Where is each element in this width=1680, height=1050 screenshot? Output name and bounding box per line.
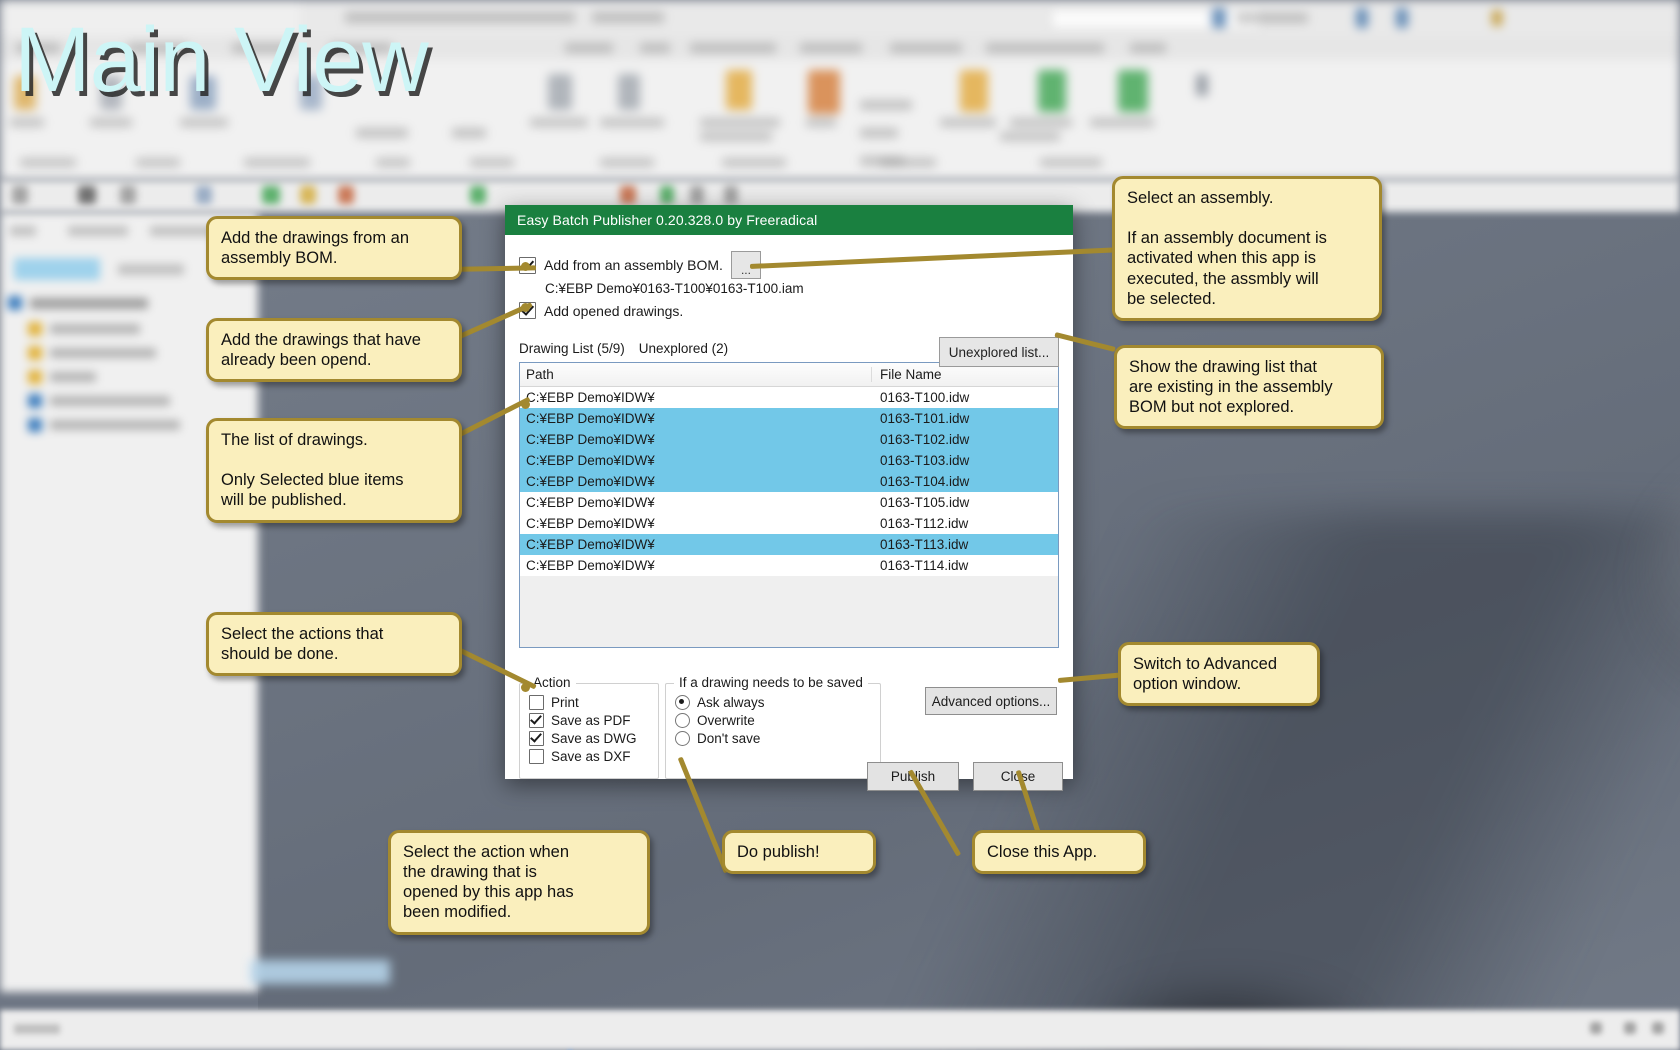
status-icon — [1624, 1022, 1636, 1034]
ribbon-command-label — [1000, 132, 1060, 141]
cell-path: C:¥EBP Demo¥IDW¥ — [520, 432, 872, 447]
drawing-list[interactable]: Path File Name C:¥EBP Demo¥IDW¥0163-T100… — [519, 362, 1059, 648]
save-behavior-group-label: If a drawing needs to be saved — [674, 675, 868, 690]
toolbar-icon — [196, 186, 212, 204]
ribbon-command-icon — [1196, 74, 1208, 96]
toolbar-icon — [724, 186, 738, 204]
save-option-row[interactable]: Don't save — [675, 731, 880, 746]
ribbon-command-icon — [726, 70, 752, 110]
ribbon-tab — [565, 43, 613, 53]
ribbon-command-label — [860, 128, 898, 138]
publish-button[interactable]: Publish — [867, 762, 959, 791]
browser-tab — [118, 264, 184, 275]
bom-checkbox[interactable] — [519, 257, 536, 274]
table-row[interactable]: C:¥EBP Demo¥IDW¥0163-T114.idw — [520, 555, 1058, 576]
save-radio[interactable] — [675, 731, 690, 746]
save-behavior-options: Ask alwaysOverwriteDon't save — [666, 684, 880, 746]
browser-header-label — [150, 226, 218, 236]
cell-filename: 0163-T103.idw — [872, 453, 1058, 468]
bom-path-text: C:¥EBP Demo¥0163-T100¥0163-T100.iam — [545, 281, 1059, 296]
toolbar-icon — [12, 186, 28, 204]
action-option-row[interactable]: Save as DXF — [529, 749, 658, 764]
cell-path: C:¥EBP Demo¥IDW¥ — [520, 474, 872, 489]
ribbon-panel-title — [600, 158, 654, 167]
folder-icon — [28, 322, 42, 336]
ribbon-tab — [690, 43, 776, 53]
tree-node-label — [50, 420, 180, 430]
action-option-label: Save as DWG — [551, 731, 637, 746]
action-checkbox[interactable] — [529, 749, 544, 764]
tree-node-label — [50, 348, 156, 358]
unexplored-list-button[interactable]: Unexplored list... — [939, 337, 1059, 367]
save-option-label: Overwrite — [697, 713, 755, 728]
action-option-row[interactable]: Save as PDF — [529, 713, 658, 728]
app-file-label — [592, 12, 664, 23]
opened-drawings-checkbox[interactable] — [519, 302, 536, 319]
ribbon-command-icon — [1038, 70, 1066, 112]
dialog-title-bar: Easy Batch Publisher 0.20.328.0 by Freer… — [505, 205, 1073, 235]
ribbon-command-label — [700, 118, 780, 127]
tree-node-label — [50, 372, 96, 382]
action-group: Action PrintSave as PDFSave as DWGSave a… — [519, 683, 659, 779]
table-row[interactable]: C:¥EBP Demo¥IDW¥0163-T104.idw — [520, 471, 1058, 492]
toolbar-icon — [338, 186, 354, 204]
table-row[interactable]: C:¥EBP Demo¥IDW¥0163-T103.idw — [520, 450, 1058, 471]
cell-path: C:¥EBP Demo¥IDW¥ — [520, 516, 872, 531]
table-row[interactable]: C:¥EBP Demo¥IDW¥0163-T105.idw — [520, 492, 1058, 513]
bom-checkbox-row[interactable]: Add from an assembly BOM. ... — [519, 251, 1059, 279]
search-box — [1050, 8, 1262, 30]
cell-path: C:¥EBP Demo¥IDW¥ — [520, 495, 872, 510]
action-checkbox[interactable] — [529, 731, 544, 746]
toolbar-icon — [262, 186, 280, 204]
model-browser-panel — [0, 212, 258, 992]
extra-icon — [1492, 10, 1502, 26]
status-icon — [1652, 1022, 1664, 1034]
ribbon-command-label — [180, 118, 228, 127]
unexplored-count: Unexplored (2) — [639, 341, 728, 356]
save-option-label: Don't save — [697, 731, 760, 746]
ribbon-command-label — [940, 118, 996, 127]
drawing-list-empty-area — [520, 576, 1058, 648]
toolbar-icon — [470, 186, 486, 204]
ribbon-panel-title — [722, 158, 786, 167]
action-options: PrintSave as PDFSave as DWGSave as DXF — [520, 684, 658, 764]
table-row[interactable]: C:¥EBP Demo¥IDW¥0163-T113.idw — [520, 534, 1058, 555]
ribbon-command-icon — [960, 70, 988, 112]
ribbon-panel-title — [1040, 158, 1102, 167]
dialog-title-text: Easy Batch Publisher 0.20.328.0 by Freer… — [517, 212, 817, 228]
ribbon-panel-title — [20, 158, 76, 167]
page-title: Main View — [14, 14, 428, 106]
ribbon-command-label — [452, 128, 486, 138]
tree-node-label — [50, 324, 140, 334]
ribbon-command-label — [1090, 118, 1154, 127]
toolbar-icon — [660, 186, 674, 204]
drawing-list-rows: C:¥EBP Demo¥IDW¥0163-T100.idwC:¥EBP Demo… — [520, 387, 1058, 576]
ribbon-command-label — [10, 118, 44, 127]
opened-drawings-checkbox-row[interactable]: Add opened drawings. — [519, 302, 1059, 319]
ribbon-tab — [890, 43, 962, 53]
browser-header-label — [68, 226, 128, 236]
drawing-list-count: Drawing List (5/9) — [519, 341, 625, 356]
toolbar-icon — [690, 186, 704, 204]
action-group-label: Action — [528, 675, 576, 690]
ribbon-command-label — [860, 100, 912, 110]
dialog-body: Add from an assembly BOM. ... C:¥EBP Dem… — [505, 235, 1073, 648]
save-option-row[interactable]: Ask always — [675, 695, 880, 710]
assembly-icon — [8, 296, 22, 310]
ribbon-panel-title — [136, 158, 180, 167]
table-row[interactable]: C:¥EBP Demo¥IDW¥0163-T101.idw — [520, 408, 1058, 429]
ribbon-command-label — [90, 118, 132, 127]
ribbon-panel-title — [376, 158, 410, 167]
cell-filename: 0163-T112.idw — [872, 516, 1058, 531]
notify-icon — [1396, 8, 1408, 28]
cell-path: C:¥EBP Demo¥IDW¥ — [520, 558, 872, 573]
action-option-row[interactable]: Print — [529, 695, 658, 710]
browser-tab-active — [14, 258, 100, 280]
advanced-options-button[interactable]: Advanced options... — [925, 687, 1057, 715]
status-bar — [0, 1010, 1680, 1050]
tree-node-label — [50, 396, 170, 406]
ribbon-command-label — [530, 118, 588, 127]
table-row[interactable]: C:¥EBP Demo¥IDW¥0163-T102.idw — [520, 429, 1058, 450]
easy-batch-publisher-dialog: Easy Batch Publisher 0.20.328.0 by Freer… — [505, 205, 1073, 779]
folder-icon — [28, 346, 42, 360]
save-radio[interactable] — [675, 713, 690, 728]
folder-icon — [28, 370, 42, 384]
account-icon — [1212, 8, 1226, 28]
ribbon-panel-title — [880, 158, 936, 167]
help-icon — [1356, 8, 1368, 28]
cell-path: C:¥EBP Demo¥IDW¥ — [520, 537, 872, 552]
ribbon-command-icon — [548, 74, 572, 110]
ribbon-command-icon — [808, 70, 840, 114]
action-checkbox[interactable] — [529, 713, 544, 728]
cell-path: C:¥EBP Demo¥IDW¥ — [520, 411, 872, 426]
cell-filename: 0163-T104.idw — [872, 474, 1058, 489]
ribbon-tab — [640, 43, 670, 53]
save-radio[interactable] — [675, 695, 690, 710]
ribbon-tab — [986, 43, 1104, 53]
table-row[interactable]: C:¥EBP Demo¥IDW¥0163-T112.idw — [520, 513, 1058, 534]
ribbon-tab — [1130, 43, 1166, 53]
ribbon-panel-title — [470, 158, 514, 167]
ribbon-command-label — [1010, 118, 1072, 127]
cell-filename: 0163-T113.idw — [872, 537, 1058, 552]
ribbon-command-icon — [618, 74, 640, 110]
ribbon-command-label — [356, 128, 408, 138]
cell-path: C:¥EBP Demo¥IDW¥ — [520, 453, 872, 468]
viewport-tab — [250, 960, 390, 984]
cell-filename: 0163-T101.idw — [872, 411, 1058, 426]
toolbar-icon — [78, 186, 96, 204]
action-option-row[interactable]: Save as DWG — [529, 731, 658, 746]
opened-drawings-label: Add opened drawings. — [544, 303, 683, 319]
ribbon-command-icon — [1118, 70, 1148, 112]
cell-filename: 0163-T114.idw — [872, 558, 1058, 573]
cell-path: C:¥EBP Demo¥IDW¥ — [520, 390, 872, 405]
part-icon — [28, 394, 42, 408]
toolbar-icon — [120, 186, 136, 204]
bom-checkbox-label: Add from an assembly BOM. — [544, 257, 723, 273]
browser-header-label — [10, 226, 36, 236]
browse-assembly-button[interactable]: ... — [731, 251, 761, 279]
account-label — [1236, 13, 1308, 23]
cell-filename: 0163-T100.idw — [872, 390, 1058, 405]
ribbon-command-label — [806, 118, 836, 127]
close-button[interactable]: Close — [973, 762, 1063, 791]
cell-filename: 0163-T102.idw — [872, 432, 1058, 447]
ribbon-command-label — [700, 132, 772, 141]
table-row[interactable]: C:¥EBP Demo¥IDW¥0163-T100.idw — [520, 387, 1058, 408]
save-option-row[interactable]: Overwrite — [675, 713, 880, 728]
action-option-label: Save as PDF — [551, 713, 631, 728]
action-option-label: Print — [551, 695, 579, 710]
status-text — [14, 1024, 60, 1034]
column-header-path[interactable]: Path — [520, 367, 872, 382]
save-behavior-group: If a drawing needs to be saved Ask alway… — [665, 683, 881, 779]
status-icon — [1590, 1022, 1602, 1034]
ribbon-command-label — [600, 118, 664, 127]
action-checkbox[interactable] — [529, 695, 544, 710]
tree-node-label — [30, 298, 148, 309]
ribbon-tab — [800, 43, 862, 53]
cell-filename: 0163-T105.idw — [872, 495, 1058, 510]
save-option-label: Ask always — [697, 695, 765, 710]
toolbar-icon — [300, 186, 316, 204]
part-icon — [28, 418, 42, 432]
ribbon-panel-title — [244, 158, 310, 167]
toolbar-icon — [620, 186, 636, 204]
column-header-filename[interactable]: File Name — [872, 367, 1058, 382]
action-option-label: Save as DXF — [551, 749, 631, 764]
